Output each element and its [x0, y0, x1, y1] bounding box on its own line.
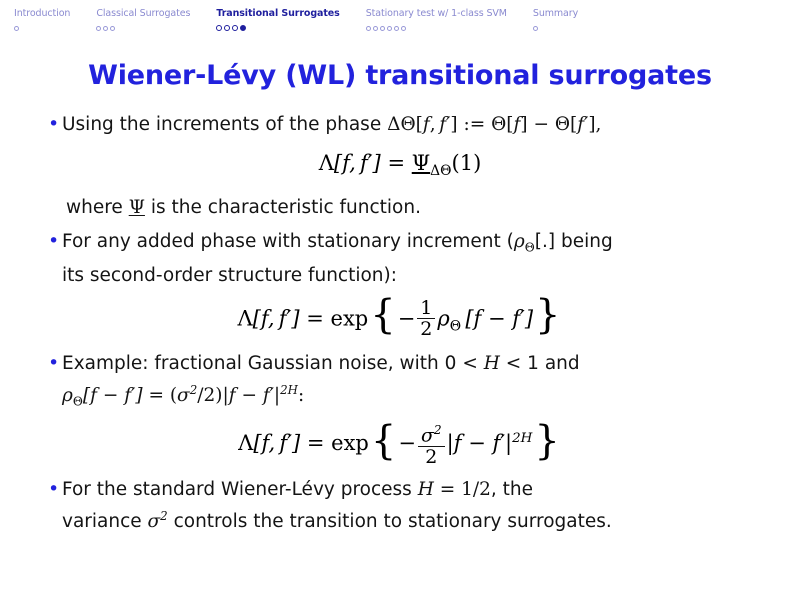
bullet-marker: •: [44, 228, 62, 254]
delta-symbol: Δ: [387, 114, 400, 135]
sigma-exponent: 2: [160, 509, 168, 523]
eq3-args: [f, f′]: [253, 432, 300, 456]
eq1-argument: (1): [452, 151, 482, 175]
nav-dot[interactable]: [380, 26, 385, 31]
theta-symbol: Θ: [400, 114, 415, 135]
lambda-symbol: Λ: [319, 151, 334, 175]
bullet-item-4: • For the standard Wiener-Lévy process H…: [44, 476, 756, 535]
beamer-navigation-bar: Introduction Classical Surrogates Transi…: [0, 0, 800, 44]
bullet-1-lead: Using the increments of the phase: [62, 114, 387, 135]
theta-subscript: Θ: [525, 241, 535, 255]
slide-content: • Using the increments of the phase ΔΘ[f…: [0, 92, 800, 535]
bullet-item-3: • Example: fractional Gaussian noise, wi…: [44, 350, 756, 416]
nav-dot[interactable]: [394, 26, 399, 31]
left-brace: {: [370, 292, 395, 338]
sigma-symbol: σ: [177, 385, 190, 406]
bullet-3-math-line: ρΘ[f − f′] = (σ2/2)|f − f′|2H:: [62, 385, 304, 406]
nav-dot[interactable]: [366, 26, 371, 31]
nav-section-classical-surrogates[interactable]: Classical Surrogates: [96, 8, 190, 33]
theta-subscript: Θ: [73, 394, 83, 408]
nav-section-dots[interactable]: [216, 23, 248, 33]
nav-dot[interactable]: [216, 25, 222, 31]
assign-operator: :=: [463, 114, 485, 135]
nav-section-transitional-surrogates[interactable]: Transitional Surrogates: [216, 8, 339, 33]
power-2H: 2H: [280, 383, 298, 397]
comma: ,: [596, 114, 602, 135]
psi-symbol: Ψ: [412, 151, 430, 175]
H-symbol: H: [418, 479, 434, 500]
rho-symbol: ρ: [514, 231, 525, 252]
power-2H: 2H: [512, 432, 532, 447]
right-brace: }: [534, 418, 559, 464]
where-psi-line: where Ψ is the characteristic function.: [66, 194, 756, 221]
nav-dot[interactable]: [103, 26, 108, 31]
bullet-marker: •: [44, 476, 62, 502]
sigma-symbol: σ: [148, 511, 161, 532]
left-brace: {: [371, 418, 396, 464]
nav-dot[interactable]: [232, 25, 238, 31]
nav-section-dots[interactable]: [96, 23, 117, 33]
fraction-denominator: 2: [417, 319, 435, 340]
bullet-4-lead: For the standard Wiener-Lévy process: [62, 479, 418, 500]
nav-section-label: Transitional Surrogates: [216, 8, 339, 20]
fraction-numerator: 1: [417, 298, 435, 319]
f-symbol: f: [423, 114, 430, 135]
bullet-text-3: Example: fractional Gaussian noise, with…: [62, 350, 756, 416]
eq2-args: [f, f′]: [253, 306, 300, 330]
sigma-symbol: σ: [421, 425, 434, 447]
less-than-operator: <: [462, 353, 478, 374]
fraction-one-half: 12: [417, 298, 435, 340]
equals-operator: =: [387, 151, 405, 175]
bullet-4-line2-lead: variance: [62, 511, 148, 532]
bullet-text-1: Using the increments of the phase ΔΘ[f, …: [62, 111, 756, 138]
nav-dot[interactable]: [373, 26, 378, 31]
theta-symbol: Θ: [491, 114, 506, 135]
equals-operator: =: [307, 432, 325, 456]
psi-symbol: Ψ: [129, 197, 145, 218]
rho-symbol: ρ: [437, 306, 449, 330]
nav-section-stationary-test[interactable]: Stationary test w/ 1-class SVM: [366, 8, 507, 33]
lambda-symbol: Λ: [238, 306, 253, 330]
bullet-item-2: • For any added phase with stationary in…: [44, 228, 756, 289]
equation-3: Λ[f, f′] = exp{−σ22|f − f′|2H}: [44, 421, 756, 468]
nav-dot[interactable]: [96, 26, 101, 31]
where-suffix: is the characteristic function.: [145, 197, 421, 218]
exp-function: exp: [331, 306, 369, 330]
nav-section-label: Introduction: [14, 8, 70, 20]
rho-symbol: ρ: [62, 385, 73, 406]
nav-section-dots[interactable]: [14, 23, 21, 33]
nav-dot[interactable]: [401, 26, 406, 31]
bullet-2-line2: its second-order structure function):: [62, 265, 397, 286]
theta-symbol: Θ: [555, 114, 570, 135]
nav-section-dots[interactable]: [533, 23, 540, 33]
subscript-delta-theta: ΔΘ: [430, 163, 451, 179]
equation-1: Λ[f, f′] = ΨΔΘ(1): [44, 148, 756, 186]
nav-section-introduction[interactable]: Introduction: [14, 8, 70, 33]
nav-dot[interactable]: [224, 25, 230, 31]
eq2-bracket: [f − f′]: [461, 306, 533, 330]
bullet-marker: •: [44, 111, 62, 137]
nav-dot-current[interactable]: [240, 25, 246, 31]
minus-operator: −: [398, 432, 416, 456]
bullet-2-tail: [.] being: [535, 231, 613, 252]
f-prime-symbol: f′: [439, 114, 450, 135]
minus-operator: −: [533, 114, 549, 135]
bullet-4-line2-tail: controls the transition to stationary su…: [168, 511, 612, 532]
theta-subscript: Θ: [450, 319, 461, 335]
equation-2: Λ[f, f′] = exp{−12ρΘ [f − f′]}: [44, 299, 756, 342]
nav-section-dots[interactable]: [366, 23, 408, 33]
eq3-abs: |f − f′|: [447, 432, 512, 456]
bullet-1-inline-math: ΔΘ[f, f′] := Θ[f] − Θ[f′],: [387, 114, 601, 135]
and-word: and: [545, 353, 580, 374]
sigma-exponent: 2: [190, 383, 198, 397]
nav-dot[interactable]: [110, 26, 115, 31]
bullet-marker: •: [44, 350, 62, 376]
one-literal: 1: [527, 353, 539, 374]
bullet-2-lead: For any added phase with stationary incr…: [62, 231, 514, 252]
exp-function: exp: [331, 432, 369, 456]
nav-dot[interactable]: [14, 26, 19, 31]
f-symbol: f: [513, 114, 520, 135]
sigma-exponent: 2: [434, 423, 442, 437]
nav-dot[interactable]: [387, 26, 392, 31]
less-than-operator: <: [506, 353, 522, 374]
minus-operator: −: [398, 306, 416, 330]
nav-section-label: Summary: [533, 8, 578, 20]
H-symbol: H: [484, 353, 500, 374]
equals-operator: =: [440, 479, 456, 500]
nav-section-label: Classical Surrogates: [96, 8, 190, 20]
one-half-value: 1/2: [461, 479, 491, 500]
eq1-args: [f, f′]: [334, 151, 381, 175]
equals-operator: =: [306, 306, 324, 330]
slide-title: Wiener-Lévy (WL) transitional surrogates: [0, 60, 800, 92]
fraction-numerator: σ2: [418, 420, 445, 446]
fraction-denominator: 2: [422, 447, 440, 468]
bullet-4-tail: , the: [491, 479, 533, 500]
bullet-text-2: For any added phase with stationary incr…: [62, 228, 756, 289]
where-prefix: where: [66, 197, 129, 218]
nav-dot[interactable]: [533, 26, 538, 31]
fraction-sigma-squared-over-two: σ22: [418, 420, 445, 467]
nav-section-label: Stationary test w/ 1-class SVM: [366, 8, 507, 20]
f-prime-symbol: f′: [577, 114, 588, 135]
bullet-item-1: • Using the increments of the phase ΔΘ[f…: [44, 111, 756, 138]
nav-section-summary[interactable]: Summary: [533, 8, 578, 33]
right-brace: }: [535, 292, 560, 338]
bullet-3-lead: Example: fractional Gaussian noise, with…: [62, 353, 462, 374]
bullet-text-4: For the standard Wiener-Lévy process H =…: [62, 476, 756, 535]
lambda-symbol: Λ: [238, 432, 253, 456]
